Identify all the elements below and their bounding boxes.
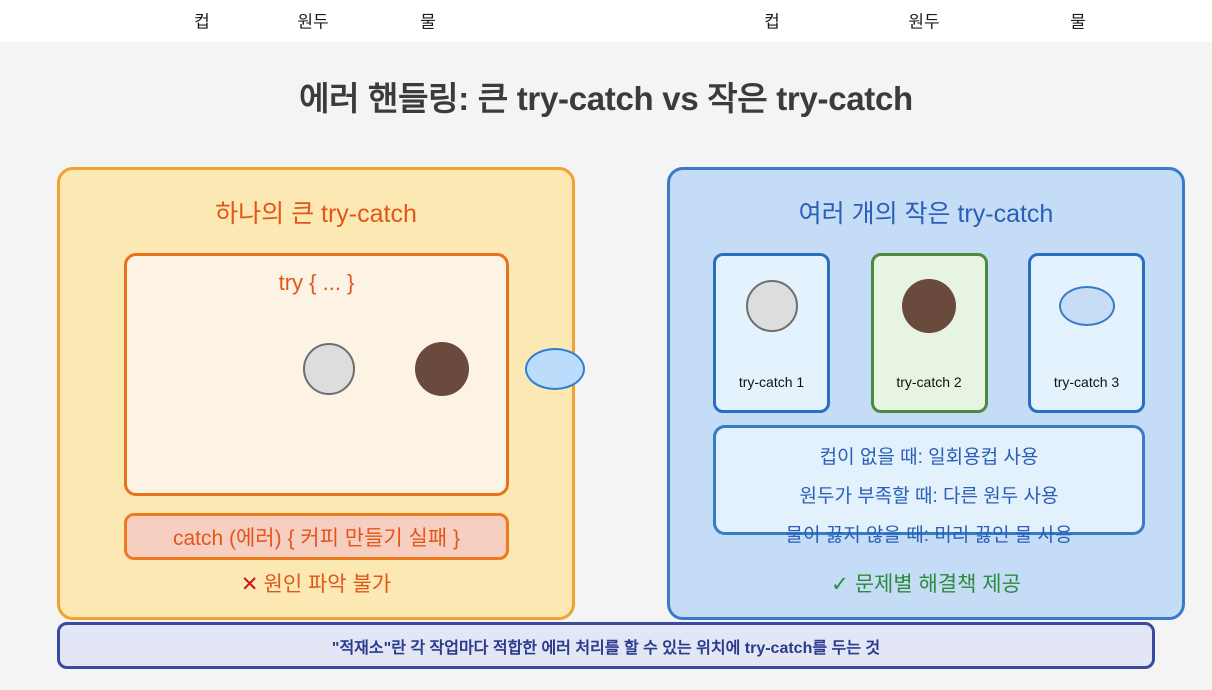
top-label-cup-left: 컵 [194, 8, 210, 33]
top-label-cup-right: 컵 [764, 8, 780, 33]
left-panel-big-try-catch: 하나의 큰 try-catch try { ... } catch (에러) {… [57, 167, 575, 620]
solution-line-1: 컵이 없을 때: 일회용컵 사용 [716, 442, 1142, 469]
catch-block: catch (에러) { 커피 만들기 실패 } [124, 513, 509, 560]
top-label-water-right: 물 [1070, 8, 1086, 33]
top-ingredient-band: 컵 원두 물 컵 원두 물 [0, 0, 1212, 42]
try-catch-card-3[interactable]: try-catch 3 [1028, 253, 1145, 413]
right-verdict-text: 문제별 해결책 제공 [855, 573, 1021, 596]
bean-shape-icon [415, 342, 469, 396]
try-catch-card-3-label: try-catch 3 [1031, 374, 1142, 390]
top-label-bean-right: 원두 [908, 8, 939, 33]
try-catch-card-1[interactable]: try-catch 1 [713, 253, 830, 413]
solutions-box: 컵이 없을 때: 일회용컵 사용 원두가 부족할 때: 다른 원두 사용 물이 … [713, 425, 1145, 535]
top-label-water-left: 물 [420, 8, 436, 33]
try-catch-card-2[interactable]: try-catch 2 [871, 253, 988, 413]
check-mark-icon: ✓ [831, 573, 849, 596]
top-label-bean-left: 원두 [297, 8, 328, 33]
try-block: try { ... } [124, 253, 509, 496]
left-verdict: ✕원인 파악 불가 [60, 568, 572, 598]
water-shape-icon [525, 348, 585, 390]
catch-block-label: catch (에러) { 커피 만들기 실패 } [173, 522, 460, 552]
water-shape-icon [1059, 286, 1115, 326]
cup-shape-icon [303, 343, 355, 395]
left-panel-title: 하나의 큰 try-catch [60, 194, 572, 230]
try-block-label: try { ... } [127, 270, 506, 296]
left-verdict-text: 원인 파악 불가 [264, 573, 392, 596]
bean-shape-icon [902, 279, 956, 333]
card-2-shape-slot [874, 278, 985, 334]
cross-mark-icon: ✕ [241, 573, 259, 596]
right-verdict: ✓문제별 해결책 제공 [670, 568, 1182, 598]
try-catch-cards-row: try-catch 1 try-catch 2 try-catch 3 [713, 253, 1145, 413]
bottom-conclusion-strip: "적재소"란 각 작업마다 적합한 에러 처리를 할 수 있는 위치에 try-… [57, 622, 1155, 669]
bottom-conclusion-text: "적재소"란 각 작업마다 적합한 에러 처리를 할 수 있는 위치에 try-… [332, 634, 880, 658]
try-catch-card-2-label: try-catch 2 [874, 374, 985, 390]
card-3-shape-slot [1031, 278, 1142, 334]
page-title: 에러 핸들링: 큰 try-catch vs 작은 try-catch [0, 72, 1212, 120]
solution-line-2: 원두가 부족할 때: 다른 원두 사용 [716, 481, 1142, 508]
solution-line-3: 물이 끓지 않을 때: 미리 끓인 물 사용 [716, 520, 1142, 547]
right-panel-title: 여러 개의 작은 try-catch [670, 194, 1182, 230]
right-panel-small-try-catch: 여러 개의 작은 try-catch try-catch 1 try-catch… [667, 167, 1185, 620]
left-shapes-row [127, 334, 506, 404]
cup-shape-icon [746, 280, 798, 332]
card-1-shape-slot [716, 278, 827, 334]
try-catch-card-1-label: try-catch 1 [716, 374, 827, 390]
